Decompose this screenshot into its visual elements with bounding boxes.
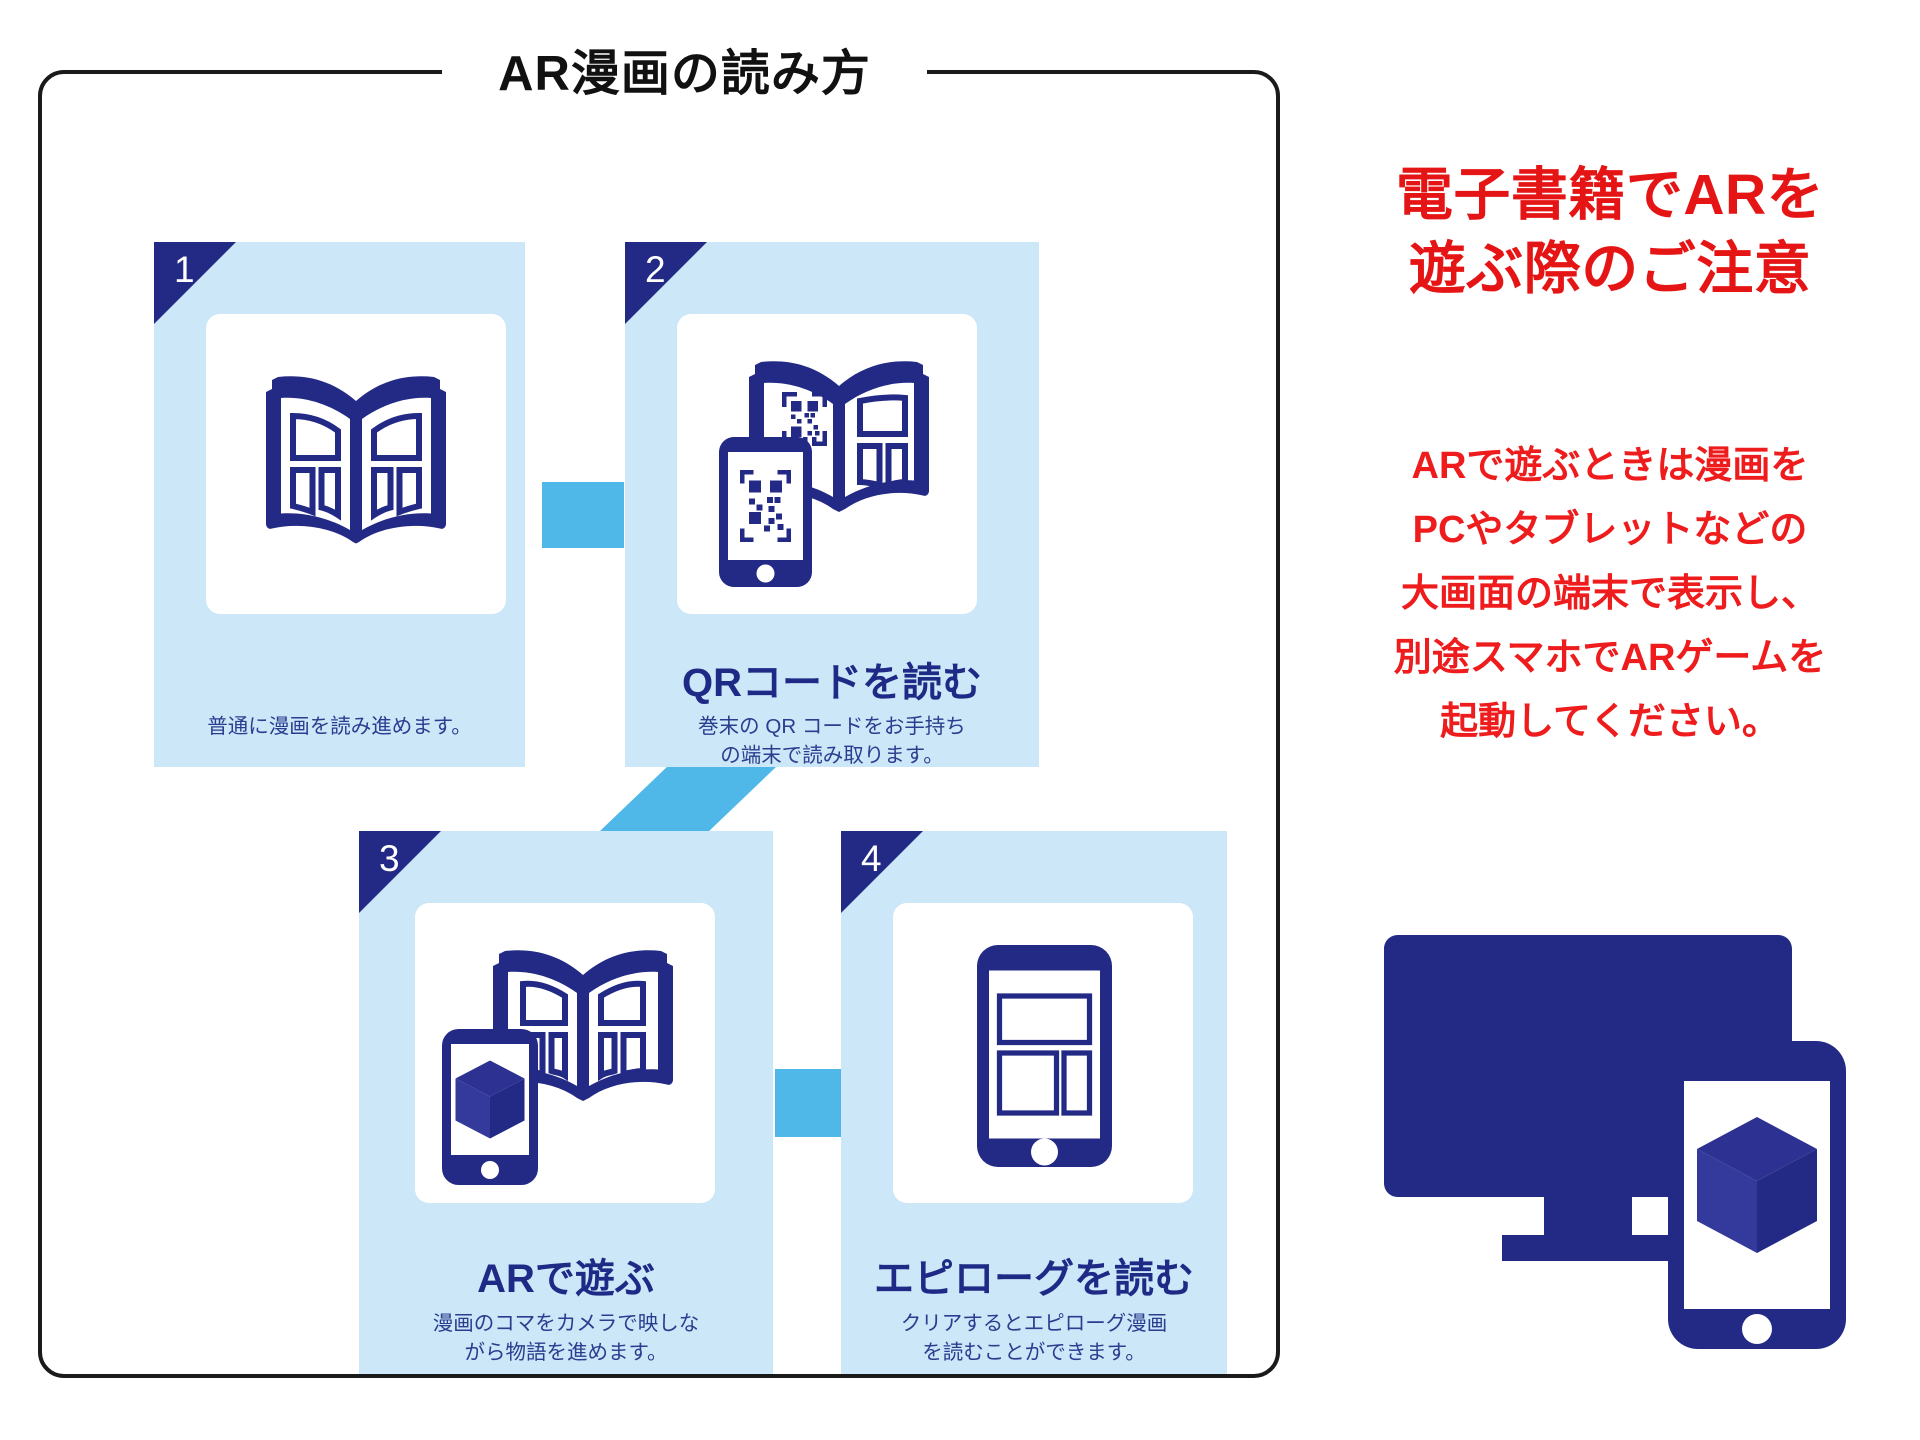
step-icon-container [415, 903, 715, 1203]
notice-heading: 電子書籍でARを 遊ぶ際のご注意 [1300, 158, 1920, 306]
step-card-3: 3 [359, 831, 773, 1374]
step-icon-container [677, 314, 977, 614]
step-number-label: 1 [174, 246, 195, 294]
notice-heading-line: 遊ぶ際のご注意 [1300, 232, 1920, 306]
step-number-label: 2 [645, 246, 666, 294]
step-description-line: 巻末の QR コードをお手持ち [625, 712, 1039, 741]
connector-step1-to-step2 [542, 482, 624, 548]
notice-body: ARで遊ぶときは漫画を PCやタブレットなどの 大画面の端末で表示し、 別途スマ… [1300, 434, 1920, 754]
notice-column: 電子書籍でARを 遊ぶ際のご注意 ARで遊ぶときは漫画を PCやタブレットなどの… [1300, 0, 1920, 1440]
step-icon-container [206, 314, 506, 614]
phone-manga-panels-icon [893, 903, 1193, 1203]
step-description: 普通に漫画を読み進めます。 [154, 712, 525, 741]
step-description-line: クリアするとエピローグ漫画 [841, 1309, 1227, 1338]
step-card-2: 2 [625, 242, 1039, 767]
connector-step2-to-step3 [600, 767, 776, 831]
step-title: QRコードを読む [625, 650, 1039, 708]
step-number-label: 4 [861, 835, 882, 883]
notice-heading-line: 電子書籍でARを [1300, 158, 1920, 232]
step-description-line: を読むことができます。 [841, 1338, 1227, 1367]
step-card-4: 4 エピローグを読む クリアするとエピローグ漫画 [841, 831, 1227, 1374]
notice-body-line: PCやタブレットなどの [1300, 498, 1920, 562]
step-number-corner [841, 831, 923, 913]
page-title: AR漫画の読み方 [442, 38, 927, 110]
step-number-corner [359, 831, 441, 913]
step-description-line: がら物語を進めます。 [359, 1338, 773, 1367]
step-icon-container [893, 903, 1193, 1203]
step-title: エピローグを読む [841, 1246, 1227, 1304]
step-card-1: 1 漫画を読む 普通に漫画を読み進めます。 [154, 242, 525, 767]
step-title: ARで遊ぶ [359, 1246, 773, 1304]
notice-body-line: ARで遊ぶときは漫画を [1300, 434, 1920, 498]
connector-step3-to-step4 [775, 1069, 841, 1137]
step-description: 巻末の QR コードをお手持ち の端末で読み取ります。 [625, 712, 1039, 770]
notice-body-line: 大画面の端末で表示し、 [1300, 562, 1920, 626]
ar-reading-steps-panel: AR漫画の読み方 1 [38, 70, 1280, 1378]
step-description-line: 漫画のコマをカメラで映しな [359, 1309, 773, 1338]
notice-body-line: 別途スマホでARゲームを [1300, 626, 1920, 690]
step-number-corner [625, 242, 707, 324]
open-book-icon [206, 314, 506, 614]
step-description-line: の端末で読み取ります。 [625, 741, 1039, 770]
phone-ar-cube-book-icon [415, 903, 715, 1203]
step-number-corner [154, 242, 236, 324]
infographic-root: AR漫画の読み方 1 [0, 0, 1920, 1440]
book-qr-scan-phone-icon [677, 314, 977, 614]
monitor-and-phone-illustration [1368, 935, 1888, 1355]
monitor-and-phone-ar-cube-icon [1368, 935, 1888, 1355]
step-description: クリアするとエピローグ漫画 を読むことができます。 [841, 1309, 1227, 1367]
notice-body-line: 起動してください。 [1300, 690, 1920, 754]
step-description: 漫画のコマをカメラで映しな がら物語を進めます。 [359, 1309, 773, 1367]
step-number-label: 3 [379, 835, 400, 883]
